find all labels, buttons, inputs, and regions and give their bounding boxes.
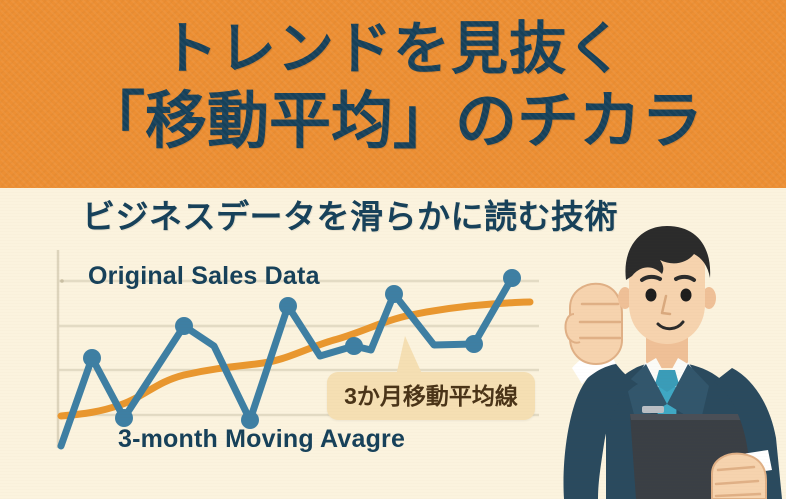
header-band: トレンドを見抜く 「移動平均」のチカラ: [0, 0, 786, 188]
raised-fist: [565, 284, 622, 364]
poster-canvas: トレンドを見抜く 「移動平均」のチカラ ビジネスデータを滑らかに読む技術: [0, 0, 786, 499]
page-title-line-2: 「移動平均」のチカラ: [0, 88, 786, 156]
eye-left: [646, 289, 657, 302]
holding-hand: [712, 454, 766, 499]
chart-axis-tick: [60, 279, 64, 283]
callout-label: 3か月移動平均線: [327, 372, 535, 420]
businessman-svg: [546, 218, 786, 499]
callout-bubble: 3か月移動平均線: [327, 372, 535, 420]
page-title-line-1: トレンドを見抜く: [0, 17, 786, 81]
eye-right: [681, 289, 692, 302]
chart-label-moving-average: 3-month Moving Avagre: [118, 425, 405, 454]
businessman-illustration: [546, 218, 786, 499]
callout-pointer: [396, 336, 423, 376]
chart-label-original-sales: Original Sales Data: [88, 262, 320, 291]
